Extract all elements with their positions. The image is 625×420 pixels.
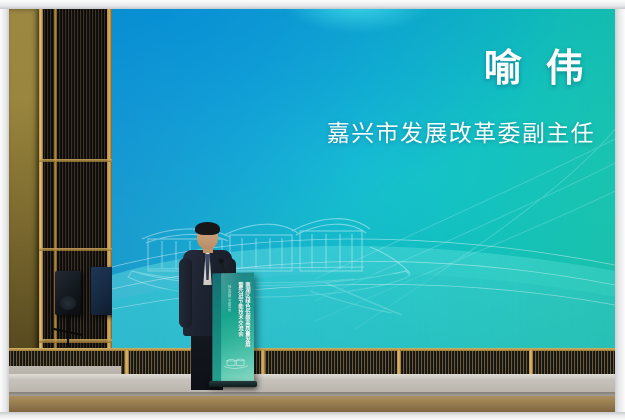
photo-border-bottom (0, 412, 625, 420)
photograph-frame: 喻 伟 嘉兴市发展改革委副主任 (0, 0, 625, 420)
loudspeaker-left (55, 271, 81, 315)
glasses-icon (198, 233, 217, 238)
wall-mullion (39, 9, 43, 369)
wall-mullion (54, 9, 57, 369)
lower-wall-post (397, 350, 401, 377)
podium-base (209, 381, 257, 387)
photo-border-top (0, 0, 625, 9)
lower-wall-rail (9, 348, 615, 351)
left-slat-section (43, 9, 109, 369)
olive-wall-panel (9, 9, 39, 369)
person-arm-left (179, 258, 192, 328)
wall-rail (39, 248, 114, 251)
lower-wall-post (261, 350, 265, 377)
lower-wall-post (529, 350, 533, 377)
stage-scene: 喻 伟 嘉兴市发展改革委副主任 (9, 9, 615, 412)
speaker-title: 嘉兴市发展改革委副主任 (112, 114, 595, 148)
podium-boat-icon (223, 357, 249, 370)
podium-banner: 绿色低碳 节能增效 南湖区绿色低碳高质量发展 暨先进节能技术交流会 (212, 273, 254, 385)
podium-banner-line-2: 暨先进节能技术交流会 (237, 282, 243, 340)
podium-side-panel (212, 273, 221, 383)
podium-banner-text: 南湖区绿色低碳高质量发展 暨先进节能技术交流会 (224, 282, 250, 340)
wall-rail (39, 159, 114, 162)
speaker-name: 喻 伟 (112, 37, 589, 92)
podium-banner-line-1: 南湖区绿色低碳高质量发展 (244, 282, 250, 340)
photo-border-left (0, 0, 9, 420)
photo-border-right (615, 0, 625, 420)
stage-front-edge (9, 396, 615, 412)
lower-wall-post (125, 350, 129, 377)
